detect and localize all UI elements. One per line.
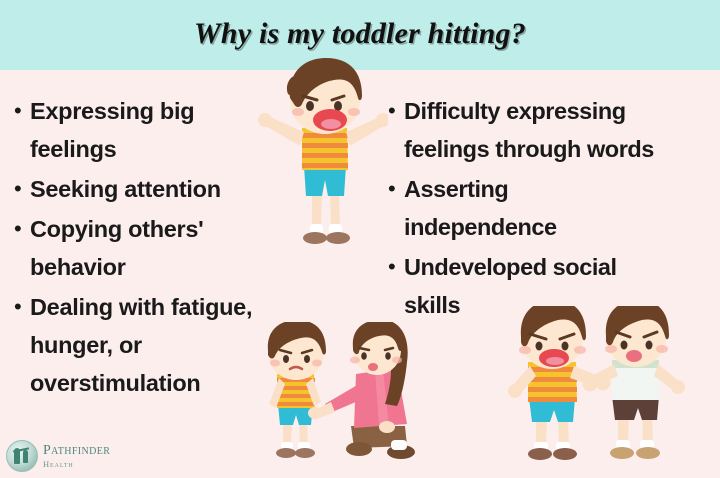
- list-item-label: Difficulty expressing feelings through w…: [404, 92, 654, 168]
- logo-subtitle: Health: [43, 460, 110, 469]
- list-item-label: Copying others' behavior: [30, 210, 203, 286]
- list-item-label: Expressing big feelings: [30, 92, 194, 168]
- infographic-poster: Why is my toddler hitting?: [0, 0, 720, 478]
- list-item-label: Undeveloped social skills: [404, 248, 617, 324]
- bullet-icon: •: [14, 210, 28, 248]
- list-item-label: Dealing with fatigue, hunger, or oversti…: [30, 288, 252, 402]
- logo-wordmark: Pathfinder Health: [43, 444, 110, 469]
- bullet-icon: •: [14, 92, 28, 130]
- list-item: • Difficulty expressing feelings through…: [388, 92, 720, 168]
- bullet-column-right: • Difficulty expressing feelings through…: [388, 92, 720, 326]
- list-item: • Undeveloped social skills: [388, 248, 720, 324]
- list-item-label: Asserting independence: [404, 170, 557, 246]
- list-item: • Copying others' behavior: [14, 210, 304, 286]
- list-item: • Asserting independence: [388, 170, 720, 246]
- bullet-column-left: • Expressing big feelings • Seeking atte…: [14, 92, 304, 404]
- list-item: • Seeking attention: [14, 170, 304, 208]
- bullet-icon: •: [388, 92, 402, 130]
- illustration-two-boys-arguing: [508, 306, 688, 478]
- list-item-label: Seeking attention: [30, 170, 221, 208]
- bullet-icon: •: [14, 288, 28, 326]
- list-item: • Dealing with fatigue, hunger, or overs…: [14, 288, 304, 402]
- bullet-icon: •: [388, 170, 402, 208]
- bullet-icon: •: [14, 170, 28, 208]
- brand-logo: Pathfinder Health: [6, 440, 110, 472]
- logo-name: Pathfinder: [43, 444, 110, 458]
- pathfinder-mark-icon: [6, 440, 38, 472]
- page-title: Why is my toddler hitting?: [0, 17, 720, 51]
- list-item: • Expressing big feelings: [14, 92, 304, 168]
- bullet-icon: •: [388, 248, 402, 286]
